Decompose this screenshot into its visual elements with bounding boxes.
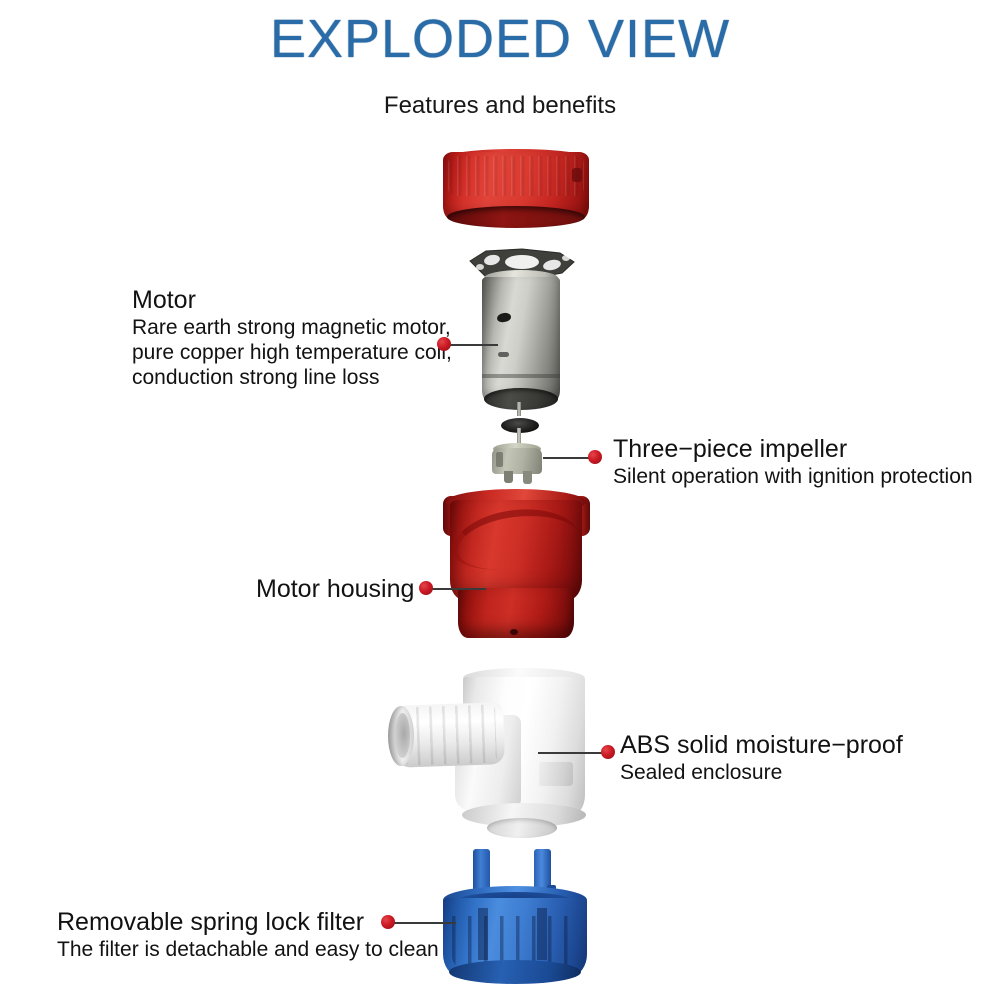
callout-dot-motor — [437, 337, 451, 351]
motor-can — [482, 277, 560, 402]
callout-impeller: Three−piece impeller Silent operation wi… — [613, 435, 973, 489]
callout-abs-line-1: Sealed enclosure — [620, 760, 903, 785]
leader-line-filter — [394, 922, 456, 924]
leader-line-motor-housing — [432, 588, 486, 590]
top-cap-ribs — [448, 156, 584, 196]
abs-hose-barb-ribs — [403, 704, 497, 765]
callout-filter: Removable spring lock filter The filter … — [57, 908, 439, 962]
filter-bottom-rim — [449, 960, 581, 984]
abs-hose-barb-bore — [395, 713, 410, 758]
page-subtitle: Features and benefits — [0, 92, 1000, 120]
callout-impeller-heading: Three−piece impeller — [613, 435, 973, 464]
motor-seam-band — [482, 374, 560, 378]
callout-filter-line-1: The filter is detachable and easy to cle… — [57, 937, 439, 962]
abs-side-step — [539, 762, 573, 786]
motor-shaft-upper — [517, 402, 521, 416]
motor-bottom-end-cap — [484, 388, 558, 410]
top-cap-notch — [572, 168, 582, 182]
callout-dot-filter — [381, 915, 395, 929]
leader-line-impeller — [543, 457, 591, 459]
leader-line-motor — [450, 344, 498, 346]
callout-motor-line-1: Rare earth strong magnetic motor, — [132, 315, 452, 340]
callout-impeller-line-1: Silent operation with ignition protectio… — [613, 464, 973, 489]
callout-motor-housing: Motor housing — [256, 575, 414, 604]
abs-bottom-inlet — [487, 818, 557, 838]
impeller-notch — [496, 452, 503, 467]
callout-motor: Motor Rare earth strong magnetic motor, … — [132, 286, 452, 390]
callout-dot-abs-enclosure — [601, 745, 615, 759]
callout-dot-impeller — [588, 450, 602, 464]
callout-abs-heading: ABS solid moisture−proof — [620, 731, 903, 760]
motor-housing-drain-hole — [510, 629, 518, 635]
leader-line-abs-enclosure — [538, 752, 604, 754]
callout-motor-line-2: pure copper high temperature coil, — [132, 340, 452, 365]
impeller-vane-left — [504, 471, 513, 483]
motor-vent-lower — [498, 352, 509, 357]
callout-motor-heading: Motor — [132, 286, 452, 315]
callout-motor-housing-heading: Motor housing — [256, 575, 414, 604]
page-title: EXPLODED VIEW — [0, 8, 1000, 70]
callout-dot-motor-housing — [419, 581, 433, 595]
top-cap-bottom-rim — [447, 206, 585, 228]
impeller-vane-right — [523, 471, 532, 484]
callout-motor-line-3: conduction strong line loss — [132, 365, 452, 390]
callout-abs-enclosure: ABS solid moisture−proof Sealed enclosur… — [620, 731, 903, 785]
